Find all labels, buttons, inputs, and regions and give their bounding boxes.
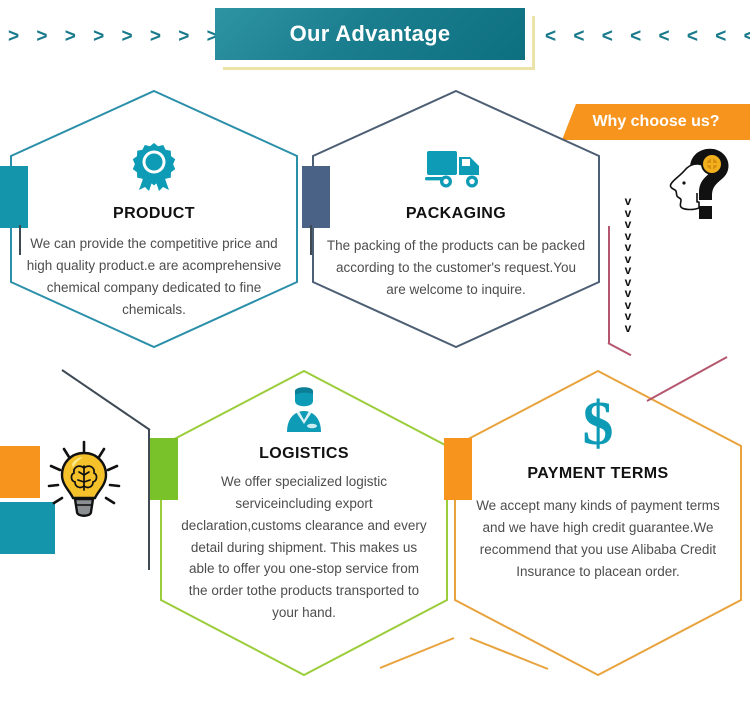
page-title: Our Advantage bbox=[290, 21, 451, 47]
dollar-sign-icon: $ bbox=[578, 396, 618, 459]
card-title-packaging: PACKAGING bbox=[406, 205, 506, 223]
connector-diagonal-left bbox=[60, 368, 160, 434]
svg-text:$: $ bbox=[583, 396, 614, 454]
card-product[interactable]: PRODUCT We can provide the competitive p… bbox=[8, 88, 300, 350]
connector-line-logistics bbox=[148, 430, 150, 570]
chevron-column: v v v v v v v v v v v v bbox=[620, 196, 636, 334]
chevron-down-icon: v bbox=[625, 323, 632, 335]
header-banner: Our Advantage bbox=[215, 8, 535, 70]
decorative-orange-block bbox=[0, 446, 40, 498]
chevron-guide-line bbox=[608, 226, 610, 344]
lightbulb-brain-icon bbox=[46, 440, 122, 526]
card-title-logistics: LOGISTICS bbox=[259, 445, 349, 463]
card-logistics[interactable]: LOGISTICS We offer specialized logistic … bbox=[158, 368, 450, 678]
person-user-icon bbox=[281, 384, 327, 439]
card-packaging[interactable]: PACKAGING The packing of the products ca… bbox=[310, 88, 602, 350]
connector-diagonal-bottom bbox=[378, 636, 558, 672]
connector-line-product bbox=[19, 225, 21, 255]
delivery-truck-icon bbox=[425, 146, 487, 195]
card-tab-product bbox=[0, 166, 28, 228]
card-tab-payment bbox=[444, 438, 472, 500]
card-text-logistics: We offer specialized logistic serviceinc… bbox=[179, 471, 429, 624]
infographic-canvas: > > > > > > > > > > > > > < < < < < < < … bbox=[0, 0, 750, 703]
card-title-payment: PAYMENT TERMS bbox=[527, 465, 668, 483]
why-choose-us-label: Why choose us? bbox=[592, 113, 719, 131]
connector-diagonal-right bbox=[645, 355, 745, 403]
header-banner-fill: Our Advantage bbox=[215, 8, 525, 60]
question-mark-head-icon bbox=[668, 138, 742, 220]
chevron-guide-line-foot bbox=[608, 342, 632, 356]
card-text-product: We can provide the competitive price and… bbox=[22, 233, 287, 320]
award-badge-icon bbox=[128, 140, 180, 197]
card-tab-logistics bbox=[150, 438, 178, 500]
card-text-packaging: The packing of the products can be packe… bbox=[325, 235, 587, 301]
card-tab-packaging bbox=[302, 166, 330, 228]
card-text-payment: We accept many kinds of payment terms an… bbox=[472, 495, 724, 582]
card-title-product: PRODUCT bbox=[113, 205, 195, 223]
header-arrows-right: < < < < < < < < < < < < < bbox=[545, 26, 750, 48]
card-payment-terms[interactable]: $ PAYMENT TERMS We accept many kinds of … bbox=[452, 368, 744, 678]
connector-line-packaging bbox=[310, 225, 312, 255]
